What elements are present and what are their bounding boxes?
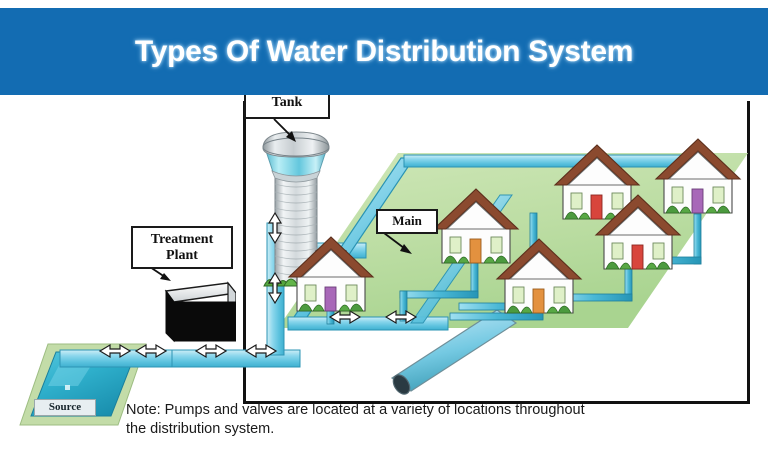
- house-5: [594, 191, 682, 275]
- main-arrow-icon: [382, 231, 428, 261]
- valve-6: [269, 273, 281, 303]
- house-4: [495, 235, 583, 319]
- diagram-canvas: Storage Tank Treatment Plant Main Source: [0, 95, 768, 452]
- valve-3: [196, 345, 226, 357]
- title-banner: Types Of Water Distribution System: [0, 8, 768, 95]
- storage-tank-arrow-icon: [270, 117, 316, 147]
- footnote-line-2: the distribution system.: [126, 420, 750, 439]
- valve-1: [100, 345, 130, 357]
- treatment-plant-label-line2: Plant: [166, 248, 198, 263]
- treatment-plant-label-line1: Treatment: [151, 232, 213, 247]
- main-label: Main: [376, 209, 438, 234]
- slide-root: Types Of Water Distribution System: [0, 0, 768, 452]
- treatment-plant-label: Treatment Plant: [131, 226, 233, 269]
- source-label: Source: [34, 399, 96, 416]
- valve-2: [136, 345, 166, 357]
- footnote-line-1: Note: Pumps and valves are located at a …: [126, 401, 750, 420]
- storage-tank-label: Storage Tank: [244, 95, 330, 119]
- footnote: Note: Pumps and valves are located at a …: [126, 401, 750, 439]
- valve-4: [246, 345, 276, 357]
- valve-5: [269, 213, 281, 243]
- storage-tank-label-line2: Tank: [272, 95, 303, 110]
- service-line-house-2: [400, 263, 478, 321]
- page-title: Types Of Water Distribution System: [0, 8, 768, 95]
- house-1: [287, 233, 375, 317]
